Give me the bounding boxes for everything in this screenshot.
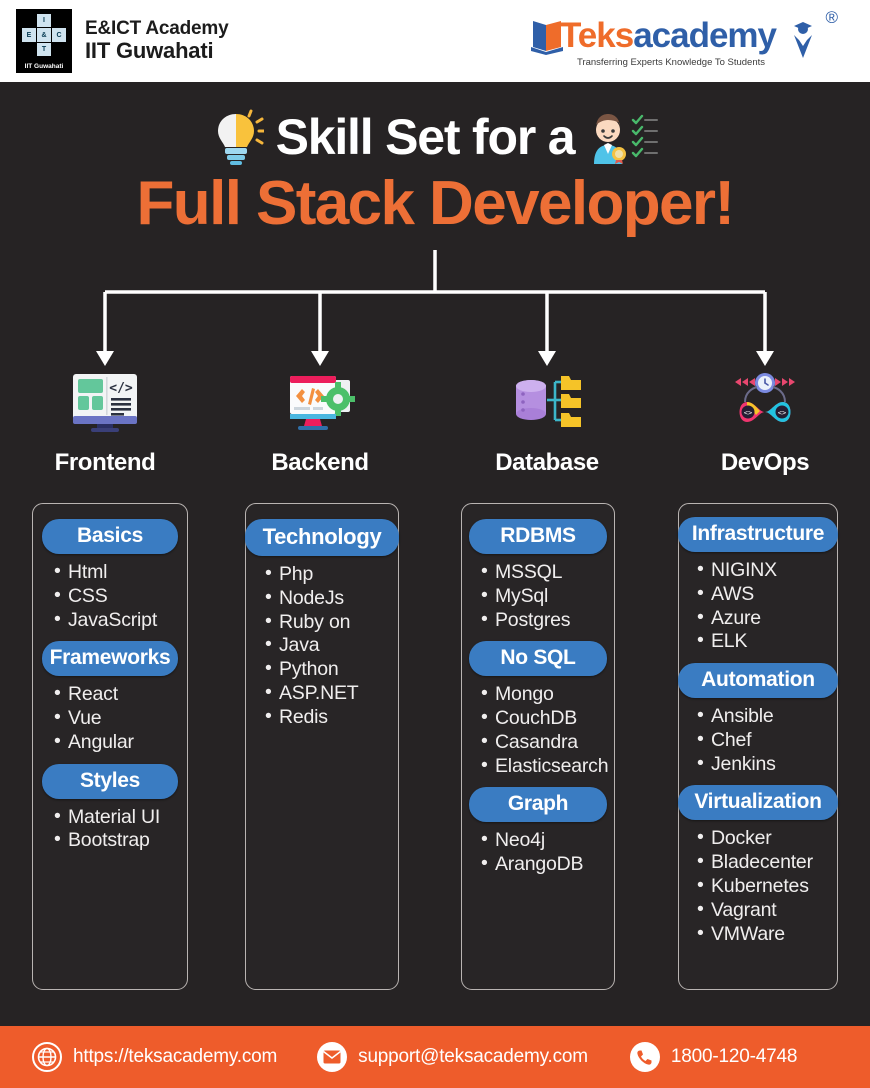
skill-item: Html — [54, 561, 180, 585]
skill-item: Neo4j — [481, 829, 609, 853]
category-row: </> Frontend — [0, 368, 870, 488]
skill-item: JavaScript — [54, 609, 180, 633]
category-backend: Backend — [220, 368, 420, 477]
skill-item: Ansible — [697, 705, 833, 729]
footer-phone[interactable]: 1800-120-4748 — [630, 1042, 797, 1072]
skill-item: Bladecenter — [697, 851, 833, 875]
graduate-person-icon — [790, 20, 816, 60]
logo-caption: IIT Guwahati — [16, 63, 72, 70]
column-card-devops: InfrastructureNIGINXAWSAzureELKAutomatio… — [678, 503, 838, 990]
skill-item: Vue — [54, 707, 180, 731]
skill-item: Vagrant — [697, 899, 833, 923]
group-heading-pill[interactable]: No SQL — [469, 641, 607, 676]
registered-mark: ® — [825, 8, 838, 28]
skill-list: MSSQLMySqlPostgres — [467, 561, 609, 632]
skill-group: RDBMSMSSQLMySqlPostgres — [467, 519, 609, 632]
skill-item: Bootstrap — [54, 829, 180, 853]
skill-list: ReactVueAngular — [40, 683, 180, 754]
skill-item: AWS — [697, 583, 833, 607]
eict-brand-line2: IIT Guwahati — [85, 39, 228, 64]
envelope-icon — [317, 1042, 347, 1072]
skill-list: DockerBladecenterKubernetesVagrantVMWare — [683, 827, 833, 946]
group-heading-pill[interactable]: Technology — [245, 519, 399, 556]
title-zone: Skill Set for a — [0, 82, 870, 262]
category-frontend: </> Frontend — [5, 368, 205, 477]
category-database: Database — [447, 368, 647, 477]
skill-group: InfrastructureNIGINXAWSAzureELK — [683, 517, 833, 654]
skill-item: NodeJs — [265, 587, 393, 611]
skill-item: Casandra — [481, 731, 609, 755]
skill-item: ArangoDB — [481, 853, 609, 877]
skill-item: Mongo — [481, 683, 609, 707]
logo-cell-e: E — [22, 28, 36, 42]
page-footer: https://teksacademy.com support@teksacad… — [0, 1026, 870, 1088]
teks-academy-brand: Teksacademy ® Transferring Experts Knowl… — [522, 8, 822, 74]
skill-item: Kubernetes — [697, 875, 833, 899]
teks-word-teks: Teks — [560, 16, 633, 55]
group-heading-pill[interactable]: Frameworks — [42, 641, 178, 676]
skill-item: Elasticsearch — [481, 755, 609, 779]
skill-item: Angular — [54, 731, 180, 755]
skill-item: MySql — [481, 585, 609, 609]
eict-brand-line1: E&ICT Academy — [85, 18, 228, 39]
brain-lightbulb-icon — [212, 109, 264, 165]
footer-phone-text: 1800-120-4748 — [671, 1046, 797, 1068]
title-line2: Full Stack Developer! — [0, 168, 870, 239]
database-folders-icon — [447, 368, 647, 440]
teks-academy-wordmark: Teksacademy — [560, 16, 776, 56]
logo-cell-amp: & — [37, 28, 51, 42]
skill-list: Material UIBootstrap — [40, 806, 180, 854]
column-inner: TechnologyPhpNodeJsRuby onJavaPythonASP.… — [246, 504, 398, 729]
skill-item: ASP.NET — [265, 682, 393, 706]
skill-item: NIGINX — [697, 559, 833, 583]
title-line1: Skill Set for a — [276, 108, 575, 166]
skill-group: AutomationAnsibleChefJenkins — [683, 663, 833, 776]
monitor-code-gear-icon — [220, 368, 420, 440]
phone-icon — [630, 1042, 660, 1072]
skill-list: AnsibleChefJenkins — [683, 705, 833, 776]
category-devops: <> <> DevOps — [665, 368, 865, 477]
monitor-layout-code-icon: </> — [5, 368, 205, 440]
skill-list: MongoCouchDBCasandraElasticsearch — [467, 683, 609, 778]
devops-infinity-gear-icon: <> <> — [665, 368, 865, 440]
column-card-backend: TechnologyPhpNodeJsRuby onJavaPythonASP.… — [245, 503, 399, 990]
group-heading-pill[interactable]: Virtualization — [678, 785, 838, 820]
skill-group: BasicsHtmlCSSJavaScript — [40, 519, 180, 632]
eict-brand-text: E&ICT Academy IIT Guwahati — [85, 18, 228, 64]
category-label-backend: Backend — [220, 449, 420, 477]
group-heading-pill[interactable]: Automation — [678, 663, 838, 698]
footer-website[interactable]: https://teksacademy.com — [32, 1042, 277, 1072]
svg-text:<>: <> — [744, 409, 752, 417]
skill-item: Ruby on — [265, 611, 393, 635]
skill-list: Neo4jArangoDB — [467, 829, 609, 877]
skill-item: CSS — [54, 585, 180, 609]
iit-eict-plus-logo: I E & C T IIT Guwahati — [16, 9, 72, 73]
group-heading-pill[interactable]: Infrastructure — [678, 517, 838, 552]
skill-list: NIGINXAWSAzureELK — [683, 559, 833, 654]
skill-item: Chef — [697, 729, 833, 753]
skill-group: GraphNeo4jArangoDB — [467, 787, 609, 877]
skill-item: ELK — [697, 630, 833, 654]
footer-website-text: https://teksacademy.com — [73, 1046, 277, 1068]
skill-item: Material UI — [54, 806, 180, 830]
skill-item: React — [54, 683, 180, 707]
skill-item: Java — [265, 634, 393, 658]
skill-item: Python — [265, 658, 393, 682]
footer-email[interactable]: support@teksacademy.com — [317, 1042, 588, 1072]
group-heading-pill[interactable]: Styles — [42, 764, 178, 799]
skill-item: VMWare — [697, 923, 833, 947]
globe-icon — [32, 1042, 62, 1072]
teks-tagline: Transferring Experts Knowledge To Studen… — [530, 57, 812, 68]
skill-group: TechnologyPhpNodeJsRuby onJavaPythonASP.… — [251, 519, 393, 729]
column-card-frontend: BasicsHtmlCSSJavaScriptFrameworksReactVu… — [32, 503, 188, 990]
group-heading-pill[interactable]: RDBMS — [469, 519, 607, 554]
skill-item: Jenkins — [697, 753, 833, 777]
skill-group: StylesMaterial UIBootstrap — [40, 764, 180, 854]
logo-cell-t: T — [37, 43, 51, 56]
column-card-database: RDBMSMSSQLMySqlPostgresNo SQLMongoCouchD… — [461, 503, 615, 990]
category-label-devops: DevOps — [665, 449, 865, 477]
logo-cell-c: C — [52, 28, 66, 42]
book-icon — [530, 17, 564, 55]
eict-brand: I E & C T IIT Guwahati E&ICT Academy IIT… — [16, 9, 228, 73]
title-line1-row: Skill Set for a — [0, 108, 870, 166]
svg-text:</>: </> — [109, 381, 133, 396]
column-inner: InfrastructureNIGINXAWSAzureELKAutomatio… — [679, 504, 837, 946]
page-header: I E & C T IIT Guwahati E&ICT Academy IIT… — [0, 0, 870, 82]
column-inner: RDBMSMSSQLMySqlPostgresNo SQLMongoCouchD… — [462, 504, 614, 877]
skill-group: No SQLMongoCouchDBCasandraElasticsearch — [467, 641, 609, 778]
group-heading-pill[interactable]: Basics — [42, 519, 178, 554]
skill-item: Postgres — [481, 609, 609, 633]
skill-item: Azure — [697, 607, 833, 631]
category-label-frontend: Frontend — [5, 449, 205, 477]
category-label-database: Database — [447, 449, 647, 477]
skill-list: HtmlCSSJavaScript — [40, 561, 180, 632]
skill-group: FrameworksReactVueAngular — [40, 641, 180, 754]
svg-text:<>: <> — [778, 409, 786, 417]
skill-item: CouchDB — [481, 707, 609, 731]
skill-list: PhpNodeJsRuby onJavaPythonASP.NETRedis — [251, 563, 393, 729]
skill-item: MSSQL — [481, 561, 609, 585]
teks-word-academy: academy — [633, 16, 776, 55]
group-heading-pill[interactable]: Graph — [469, 787, 607, 822]
skill-item: Redis — [265, 706, 393, 730]
skill-group: VirtualizationDockerBladecenterKubernete… — [683, 785, 833, 946]
connector-tree — [0, 250, 870, 370]
person-checklist-icon — [586, 110, 658, 164]
skill-columns: BasicsHtmlCSSJavaScriptFrameworksReactVu… — [0, 503, 870, 990]
column-inner: BasicsHtmlCSSJavaScriptFrameworksReactVu… — [33, 504, 187, 853]
skill-item: Php — [265, 563, 393, 587]
footer-email-text: support@teksacademy.com — [358, 1046, 588, 1068]
skill-item: Docker — [697, 827, 833, 851]
logo-cell-i: I — [37, 14, 51, 27]
